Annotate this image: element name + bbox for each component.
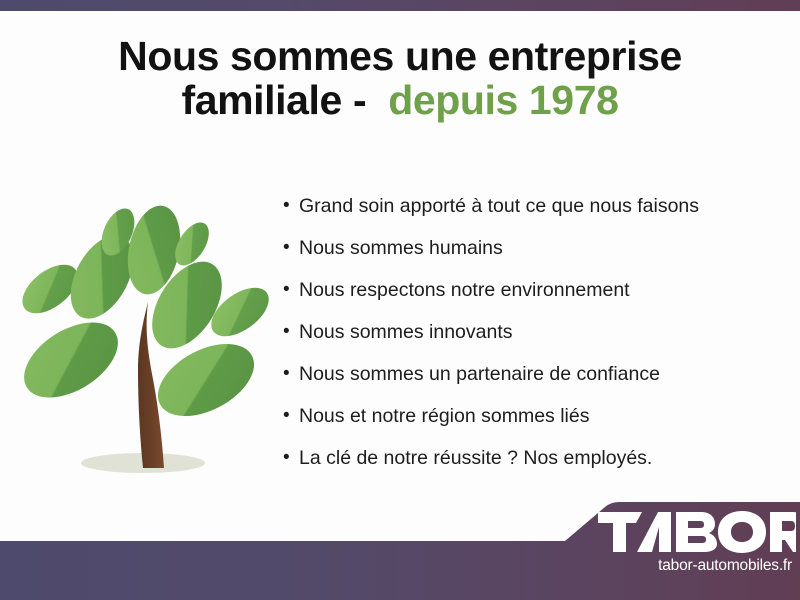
bullet-marker-icon: •: [283, 235, 299, 261]
list-item: • La clé de notre réussite ? Nos employé…: [283, 445, 783, 487]
list-item-label: Nous et notre région sommes liés: [299, 403, 589, 429]
brand-logo: tabor-automobiles.fr: [596, 510, 796, 588]
list-item-label: Grand soin apporté à tout ce que nous fa…: [299, 193, 699, 219]
list-item: • Nous et notre région sommes liés: [283, 403, 783, 445]
bullet-marker-icon: •: [283, 319, 299, 345]
bullet-marker-icon: •: [283, 193, 299, 219]
slide-canvas: Nous sommes une entreprise familiale - d…: [0, 0, 800, 600]
title-line-2: familiale - depuis 1978: [0, 78, 800, 122]
bullet-marker-icon: •: [283, 277, 299, 303]
page-title: Nous sommes une entreprise familiale - d…: [0, 34, 800, 123]
list-item: • Nous sommes innovants: [283, 319, 783, 361]
bullet-marker-icon: •: [283, 361, 299, 387]
list-item-label: Nous sommes innovants: [299, 319, 513, 345]
title-line-1: Nous sommes une entreprise: [0, 34, 800, 78]
list-item-label: Nous sommes un partenaire de confiance: [299, 361, 660, 387]
title-accent-year: depuis 1978: [388, 77, 618, 123]
bullet-list: • Grand soin apporté à tout ce que nous …: [283, 193, 783, 487]
list-item-label: Nous sommes humains: [299, 235, 503, 261]
list-item-label: La clé de notre réussite ? Nos employés.: [299, 445, 652, 471]
list-item-label: Nous respectons notre environnement: [299, 277, 630, 303]
bullet-marker-icon: •: [283, 403, 299, 429]
bullet-marker-icon: •: [283, 445, 299, 471]
title-line-2-prefix: familiale: [181, 77, 341, 123]
list-item: • Grand soin apporté à tout ce que nous …: [283, 193, 783, 235]
top-accent-bar: [0, 0, 800, 11]
website-url: tabor-automobiles.fr: [596, 557, 796, 575]
list-item: • Nous sommes un partenaire de confiance: [283, 361, 783, 403]
list-item: • Nous respectons notre environnement: [283, 277, 783, 319]
tree-leaf: [12, 307, 131, 413]
tree-illustration: [12, 192, 274, 490]
list-item: • Nous sommes humains: [283, 235, 783, 277]
title-dash: -: [353, 77, 366, 123]
tabor-wordmark-icon: [596, 510, 796, 554]
